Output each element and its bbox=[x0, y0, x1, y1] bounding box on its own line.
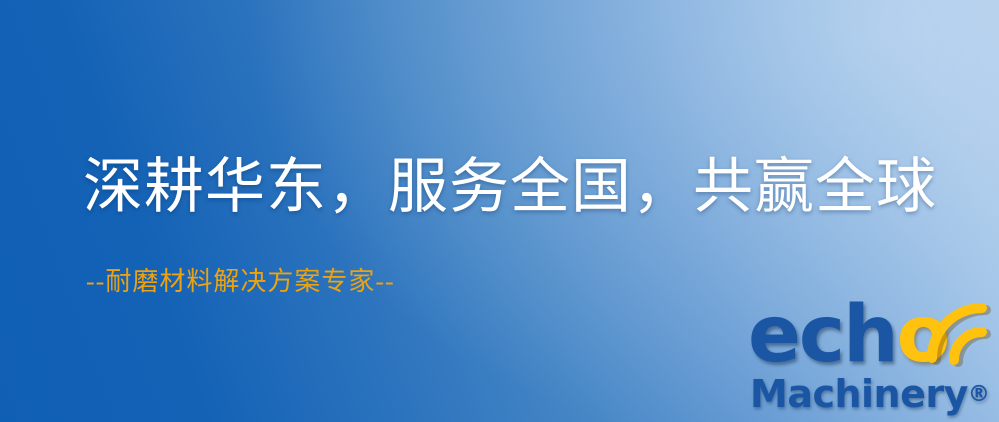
banner-subtitle: --耐磨材料解决方案专家-- bbox=[86, 265, 395, 299]
logo-wordmark-prefix: ech bbox=[748, 290, 897, 380]
echo-waves-icon bbox=[914, 288, 999, 366]
banner-headline: 深耕华东，服务全国，共赢全球 bbox=[83, 150, 937, 224]
registered-trademark-icon: ® bbox=[968, 382, 990, 407]
hero-banner: 深耕华东，服务全国，共赢全球 --耐磨材料解决方案专家-- echo Machi… bbox=[0, 0, 999, 422]
logo-tagline-text: Machinery bbox=[750, 372, 968, 416]
logo-tagline: Machinery® bbox=[750, 374, 990, 415]
echo-machinery-logo: echo Machinery® bbox=[742, 296, 994, 418]
